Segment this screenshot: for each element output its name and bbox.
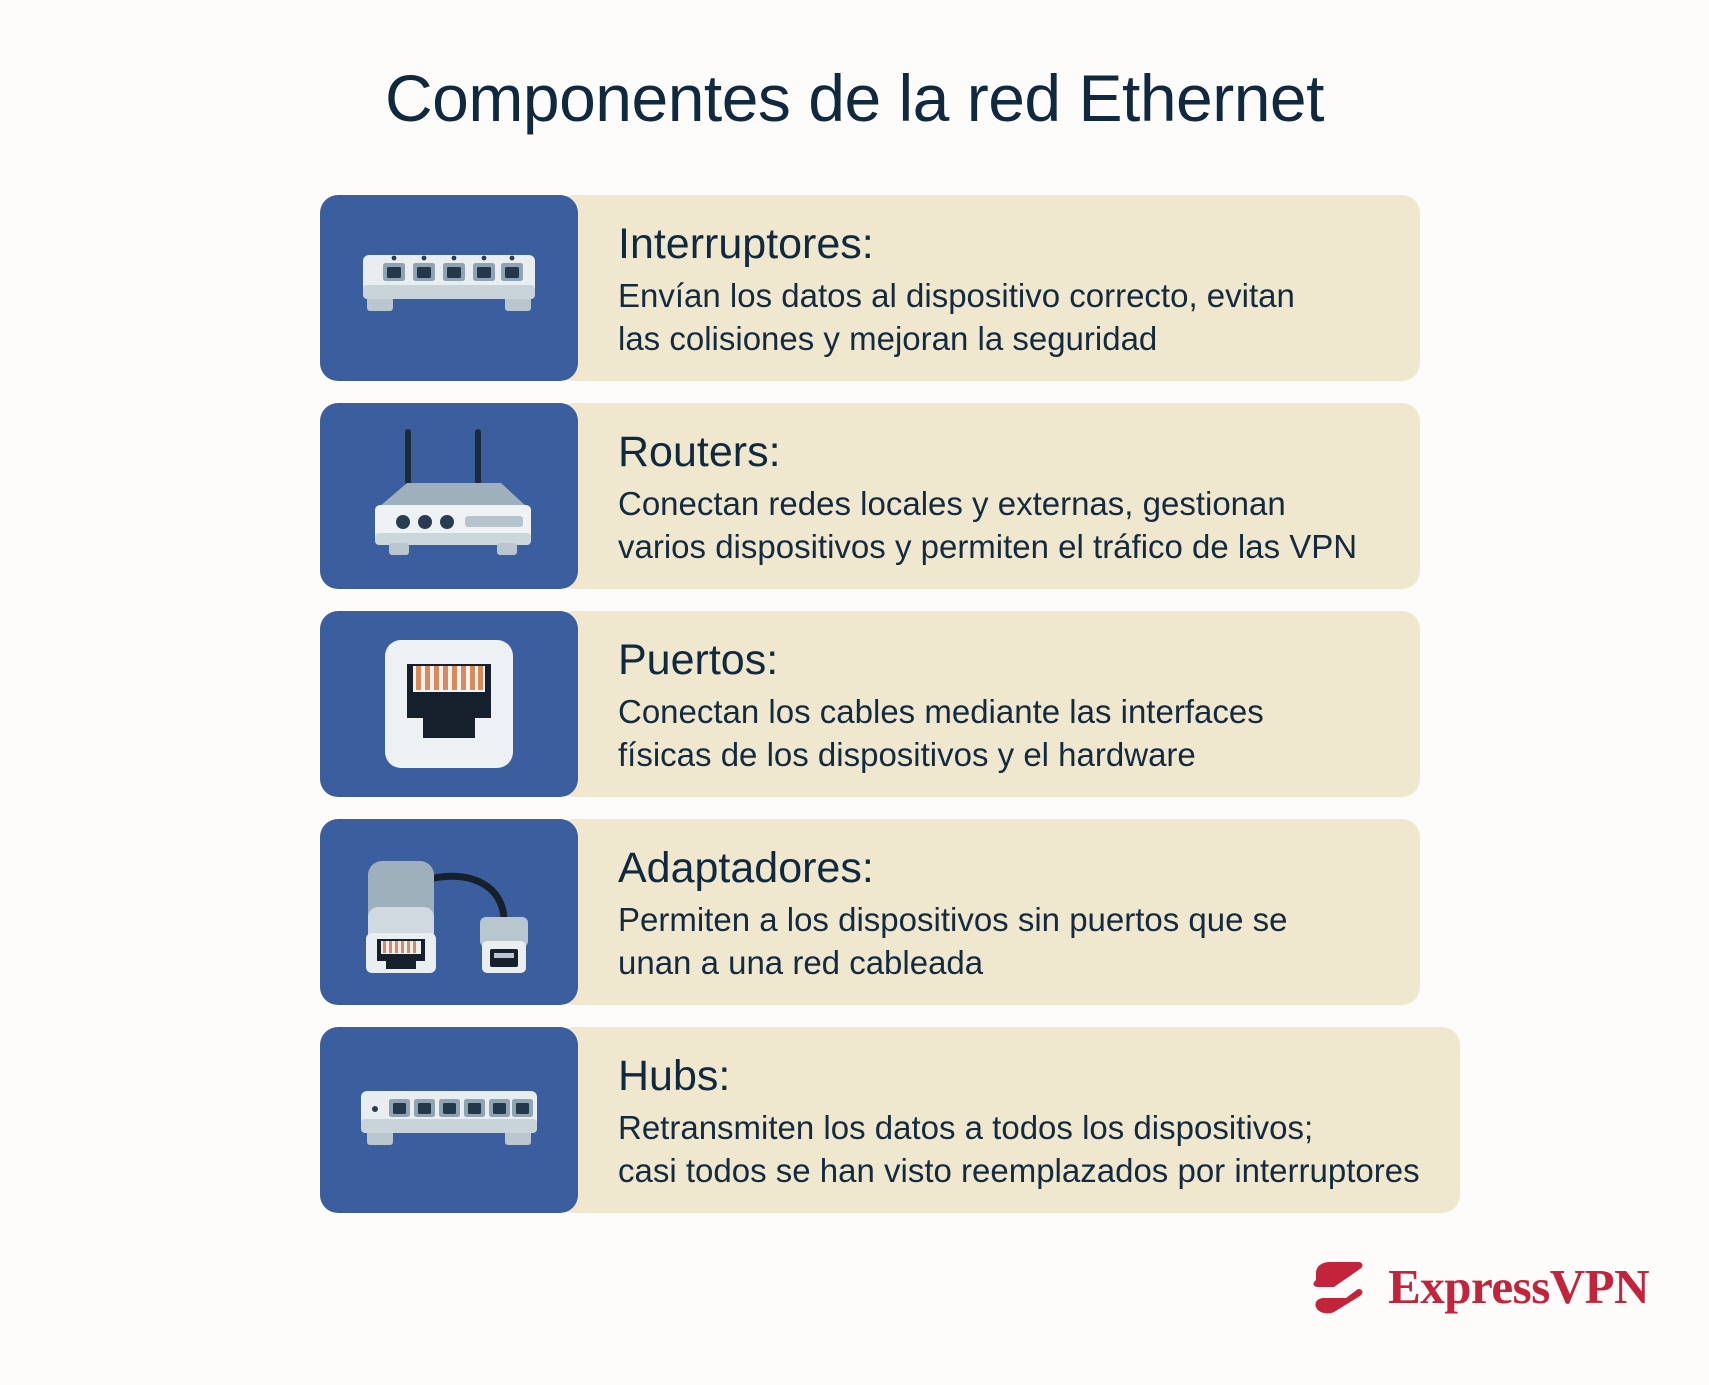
component-list: Interruptores: Envían los datos al dispo… [320,195,1420,1235]
card-title: Hubs: [618,1052,1420,1101]
card-line: unan a una red cableada [618,942,1380,984]
list-item: Puertos: Conectan los cables mediante la… [320,611,1420,797]
network-switch-tile [320,195,578,381]
expressvpn-logo-icon [1300,1249,1374,1323]
wifi-router-icon [349,421,549,571]
component-card: Puertos: Conectan los cables mediante la… [556,611,1420,797]
card-body: Permiten a los dispositivos sin puertos … [618,899,1380,983]
card-line: Conectan los cables mediante las interfa… [618,691,1380,733]
ethernet-port-tile [320,611,578,797]
card-body: Retransmiten los datos a todos los dispo… [618,1107,1420,1191]
component-card: Adaptadores: Permiten a los dispositivos… [556,819,1420,1005]
card-line: Permiten a los dispositivos sin puertos … [618,899,1380,941]
list-item: Hubs: Retransmiten los datos a todos los… [320,1027,1420,1213]
component-card: Interruptores: Envían los datos al dispo… [556,195,1420,381]
card-body: Conectan los cables mediante las interfa… [618,691,1380,775]
card-line: Envían los datos al dispositivo correcto… [618,275,1380,317]
card-title: Adaptadores: [618,844,1380,893]
list-item: Adaptadores: Permiten a los dispositivos… [320,819,1420,1005]
network-switch-icon [349,233,549,343]
card-body: Conectan redes locales y externas, gesti… [618,483,1380,567]
component-card: Routers: Conectan redes locales y extern… [556,403,1420,589]
list-item: Interruptores: Envían los datos al dispo… [320,195,1420,381]
card-title: Interruptores: [618,220,1380,269]
card-line: Retransmiten los datos a todos los dispo… [618,1107,1420,1149]
card-body: Envían los datos al dispositivo correcto… [618,275,1380,359]
network-hub-tile [320,1027,578,1213]
card-line: varios dispositivos y permiten el tráfic… [618,526,1380,568]
usb-ethernet-adapter-tile [320,819,578,1005]
page-title: Componentes de la red Ethernet [0,60,1709,136]
card-title: Routers: [618,428,1380,477]
card-line: las colisiones y mejoran la seguridad [618,318,1380,360]
card-line: físicas de los dispositivos y el hardwar… [618,734,1380,776]
component-card: Hubs: Retransmiten los datos a todos los… [556,1027,1460,1213]
usb-ethernet-adapter-icon [344,837,554,987]
infographic-page: Componentes de la red Ethernet [0,0,1709,1385]
ethernet-port-icon [379,634,519,774]
expressvpn-logo: ExpressVPN [1300,1249,1649,1323]
expressvpn-wordmark: ExpressVPN [1388,1258,1649,1315]
wifi-router-tile [320,403,578,589]
network-hub-icon [349,1065,549,1175]
card-line: Conectan redes locales y externas, gesti… [618,483,1380,525]
card-title: Puertos: [618,636,1380,685]
list-item: Routers: Conectan redes locales y extern… [320,403,1420,589]
card-line: casi todos se han visto reemplazados por… [618,1150,1420,1192]
